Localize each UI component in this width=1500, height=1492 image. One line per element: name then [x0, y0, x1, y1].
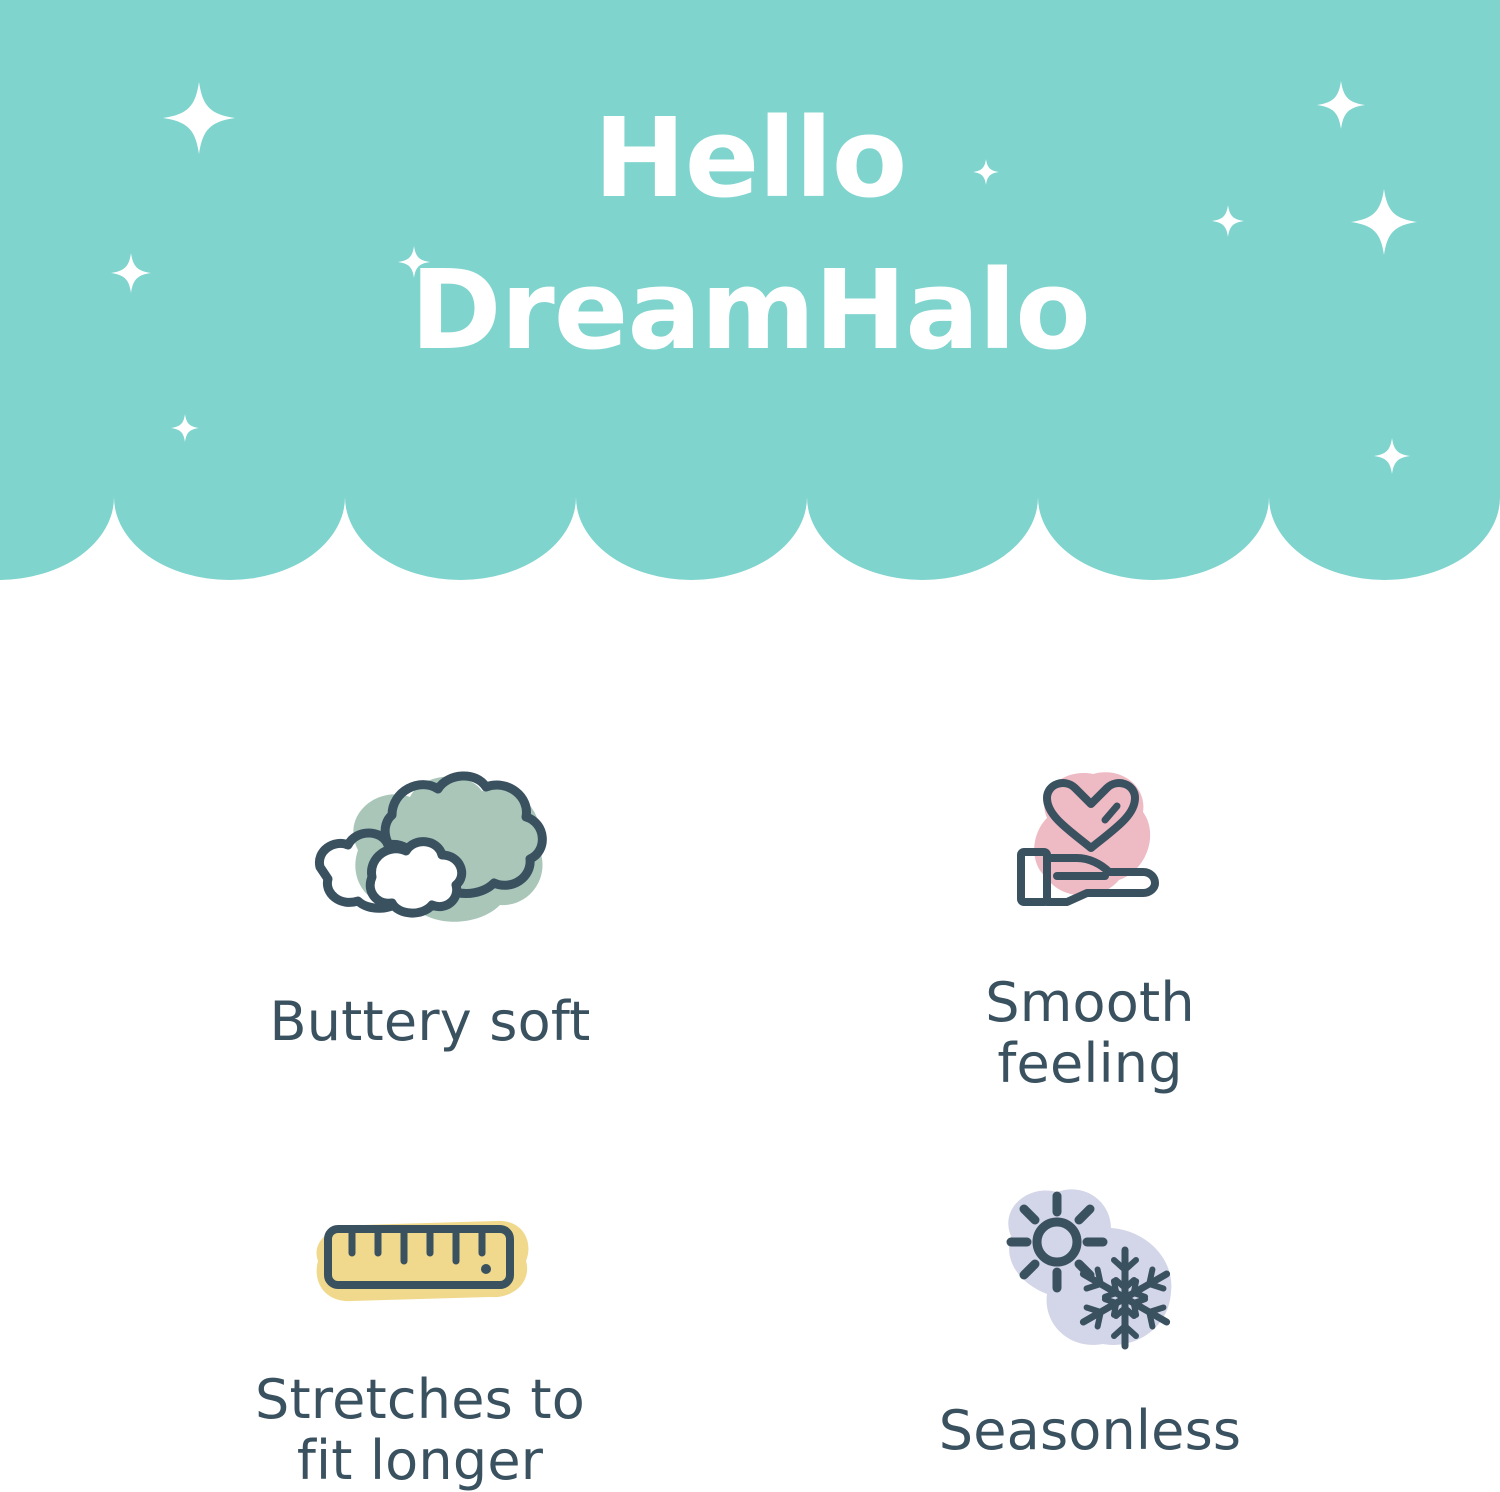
feature-buttery-soft: Buttery soft	[170, 755, 690, 1052]
feature-smooth-feeling: Smooth feeling	[830, 760, 1350, 1094]
cloud-icon	[280, 755, 580, 945]
hero-section: Hello DreamHalo	[0, 0, 1500, 580]
feature-seasonless: Seasonless	[830, 1180, 1350, 1461]
feature-label: Seasonless	[939, 1400, 1241, 1461]
features-grid: Buttery soft Smooth feeling	[0, 580, 1500, 1492]
promo-banner: Hello DreamHalo Buttery soft	[0, 0, 1500, 1492]
heart-in-hand-icon	[995, 760, 1185, 920]
feature-label: Smooth feeling	[985, 972, 1195, 1094]
ruler-icon	[300, 1205, 540, 1315]
hero-scalloped-shape	[0, 0, 1500, 580]
feature-label: Stretches to fit longer	[255, 1369, 585, 1491]
feature-stretches-to-fit-longer: Stretches to fit longer	[150, 1205, 690, 1491]
sun-snowflake-icon	[985, 1180, 1195, 1360]
hero-background	[0, 0, 1500, 580]
feature-label: Buttery soft	[270, 991, 591, 1052]
